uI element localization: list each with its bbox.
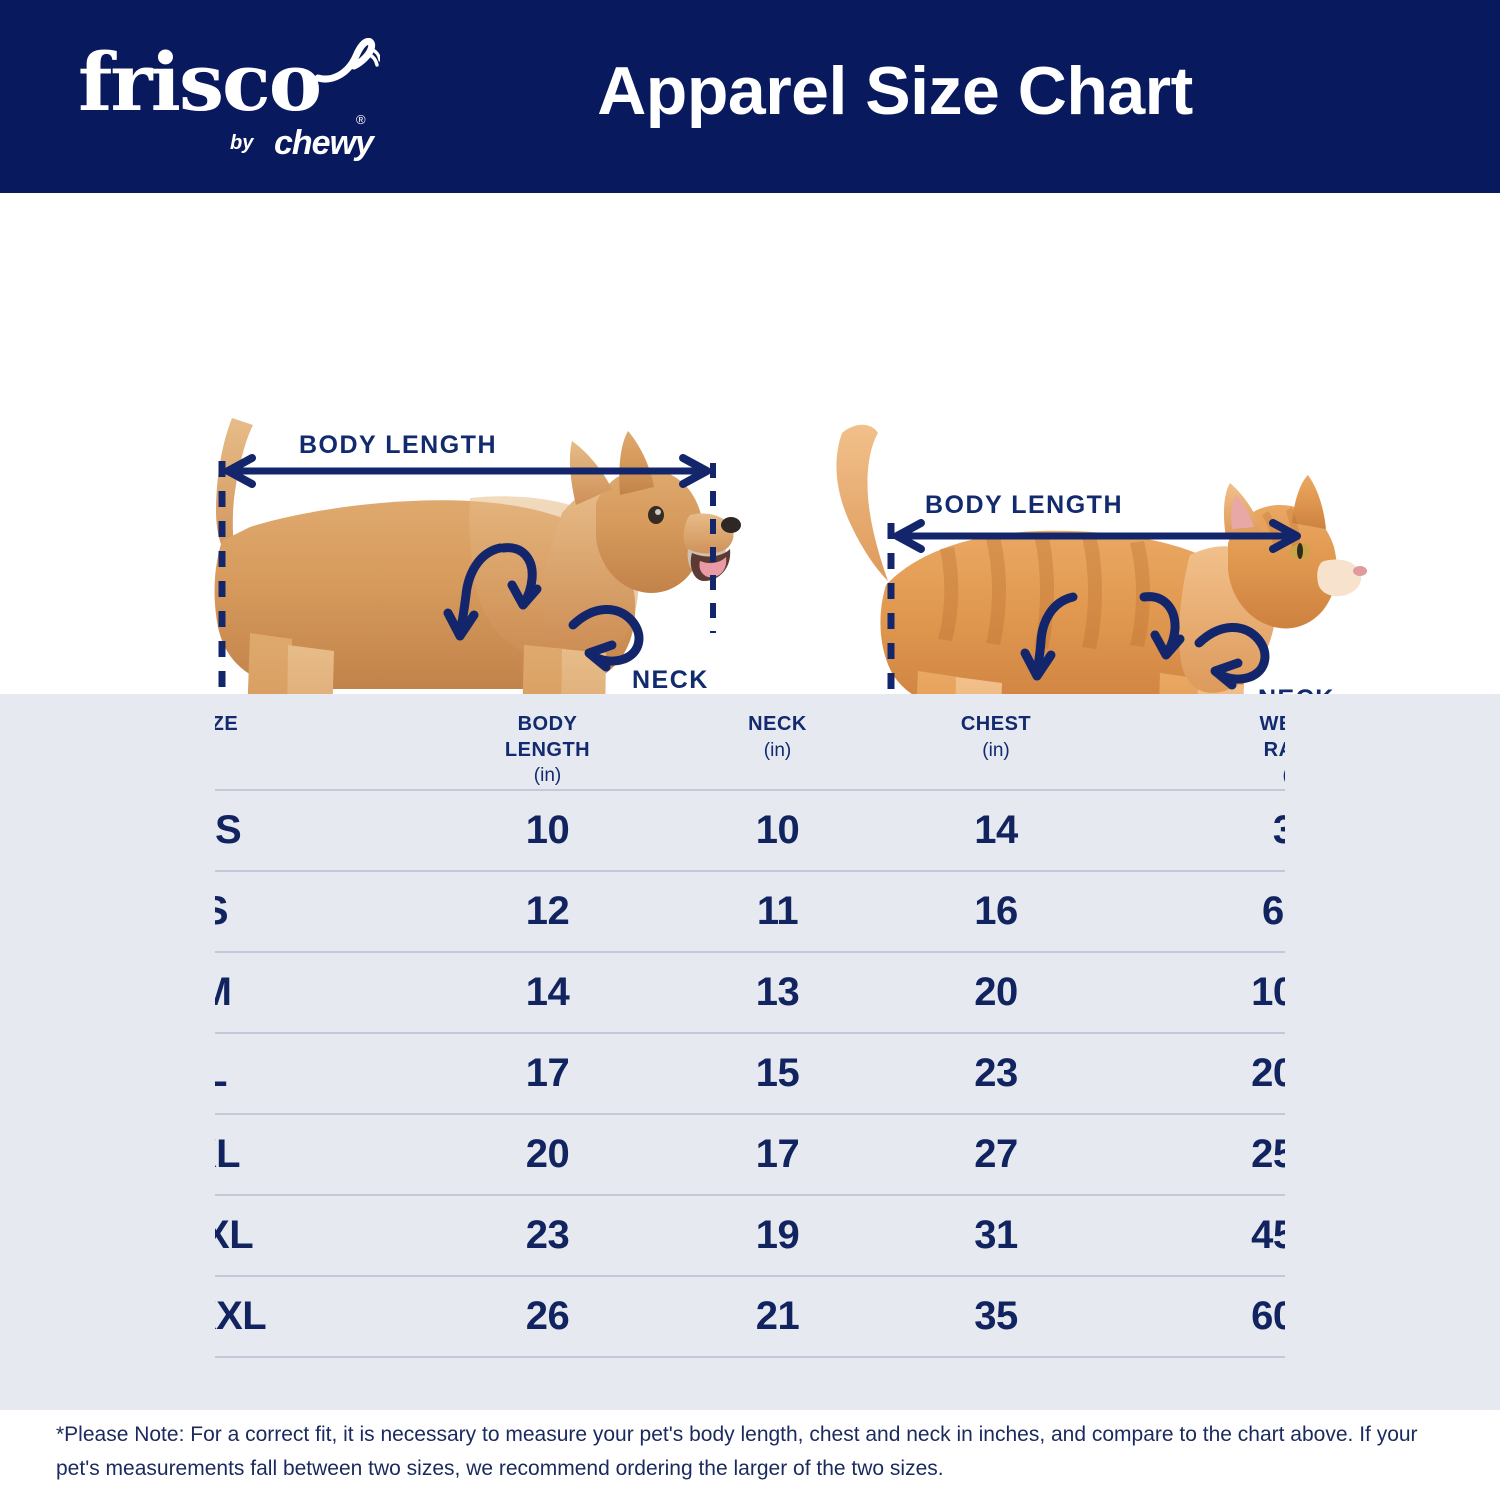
logo-by-text: by: [230, 132, 253, 155]
cell-body-length: 26: [430, 1276, 665, 1357]
cell-chest: 31: [890, 1195, 1102, 1276]
cell-neck: 15: [665, 1033, 890, 1114]
cell-chest: 23: [890, 1033, 1102, 1114]
footnote-text: *Please Note: For a correct fit, it is n…: [0, 1418, 1500, 1486]
header-chest: CHEST (in): [890, 694, 1102, 790]
cell-neck: 21: [665, 1276, 890, 1357]
cell-body-length: 17: [430, 1033, 665, 1114]
dog-neck-arrow: [573, 609, 639, 661]
size-table-section: SIZE BODY LENGTH (in) NECK (in) CHEST (i…: [0, 694, 1500, 1410]
cell-chest: 14: [890, 790, 1102, 871]
cell-chest: 20: [890, 952, 1102, 1033]
table-header-row: SIZE BODY LENGTH (in) NECK (in) CHEST (i…: [0, 694, 1500, 790]
measurement-annotations: [0, 193, 1500, 694]
cell-body-length: 14: [430, 952, 665, 1033]
header-bar: frisco ® by chewy Apparel Size Chart: [0, 0, 1500, 193]
cell-chest: 35: [890, 1276, 1102, 1357]
cell-chest: 27: [890, 1114, 1102, 1195]
size-table: SIZE BODY LENGTH (in) NECK (in) CHEST (i…: [0, 694, 1500, 1358]
cell-neck: 10: [665, 790, 890, 871]
cell-body-length: 23: [430, 1195, 665, 1276]
cell-neck: 11: [665, 871, 890, 952]
cell-neck: 19: [665, 1195, 890, 1276]
table-row: S 12 11 16 6-10: [0, 871, 1500, 952]
dog-neck-label: NECK: [632, 666, 709, 694]
cat-body-length-label: BODY LENGTH: [925, 491, 1123, 520]
cell-body-length: 20: [430, 1114, 665, 1195]
size-chart-page: frisco ® by chewy Apparel Size Chart: [0, 0, 1500, 1500]
header-neck: NECK (in): [665, 694, 890, 790]
table-row: L 17 15 23 20-29: [0, 1033, 1500, 1114]
table-head: SIZE BODY LENGTH (in) NECK (in) CHEST (i…: [0, 694, 1500, 790]
dog-body-length-label: BODY LENGTH: [299, 431, 497, 460]
cell-neck: 17: [665, 1114, 890, 1195]
cell-chest: 16: [890, 871, 1102, 952]
table-body: XS 10 10 14 3-7 S 12 11 16 6-10 M 14 13: [0, 790, 1500, 1357]
header-body-length: BODY LENGTH (in): [430, 694, 665, 790]
cell-body-length: 10: [430, 790, 665, 871]
table-row: M 14 13 20 10-22: [0, 952, 1500, 1033]
measurement-diagram: BODY LENGTH NECK CHEST BODY LENGTH NECK …: [0, 193, 1500, 694]
table-row: XS 10 10 14 3-7: [0, 790, 1500, 871]
table-row: XXXL 26 21 35 60-85: [0, 1276, 1500, 1357]
cell-body-length: 12: [430, 871, 665, 952]
cat-neck-label: NECK: [1258, 685, 1335, 694]
rule-mask-left: [0, 694, 215, 1410]
table-row: XXL 23 19 31 45-60: [0, 1195, 1500, 1276]
cat-neck-arrow: [1199, 627, 1265, 679]
page-title: Apparel Size Chart: [0, 52, 1500, 130]
rule-mask-right: [1285, 694, 1500, 1410]
cell-neck: 13: [665, 952, 890, 1033]
table-row: XL 20 17 27 25-45: [0, 1114, 1500, 1195]
